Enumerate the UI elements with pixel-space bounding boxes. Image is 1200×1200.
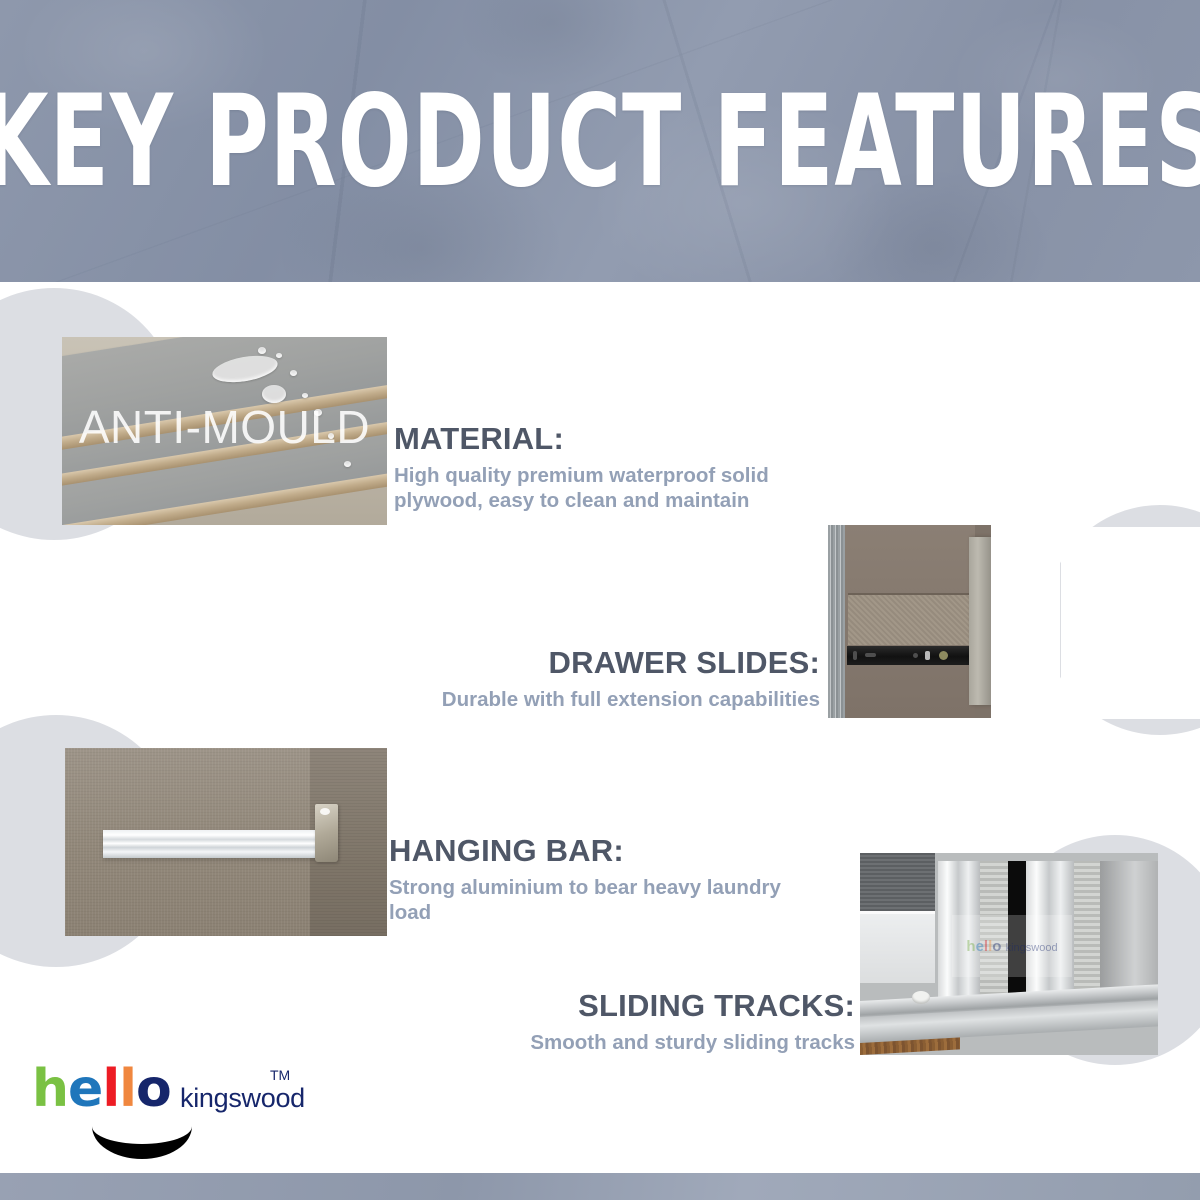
feature-material-text: MATERIAL: High quality premium waterproo… (394, 421, 834, 514)
feature-sliding-body: Smooth and sturdy sliding tracks (470, 1030, 855, 1056)
logo-smile-icon (92, 1125, 192, 1159)
wardrobe-interior (1100, 861, 1158, 1001)
hanging-bar-photo (65, 748, 387, 936)
rail-detail (865, 653, 876, 657)
white-lower-panel (860, 911, 935, 983)
drawer-side-wall (828, 525, 845, 718)
decor-white-notch (1061, 527, 1200, 719)
rail-screw (939, 651, 948, 660)
feature-material-body: High quality premium waterproof solid pl… (394, 463, 834, 515)
watermark-text: hello kingswood (966, 938, 1057, 955)
feature-drawer-heading: DRAWER SLIDES: (360, 645, 820, 682)
water-droplet-small (314, 409, 322, 416)
drawer-photo-cutout (991, 525, 1060, 718)
logo-letter-e: e (68, 1063, 102, 1115)
infographic-canvas: KEY PRODUCT FEATURES ANTI-MOULD MATERIAL… (0, 0, 1200, 1200)
water-droplet-small (344, 461, 351, 467)
page-title: KEY PRODUCT FEATURES (42, 0, 1158, 282)
plywood-photo (62, 337, 387, 525)
logo-letter-h: h (32, 1063, 68, 1115)
feature-hanging-body: Strong aluminium to bear heavy laundry l… (389, 875, 809, 927)
logo-letter-l2: l (119, 1063, 136, 1115)
water-droplet-medium (262, 385, 286, 403)
logo-brand-name: kingswood (180, 1083, 305, 1114)
drawer-front-face (969, 537, 991, 705)
feature-sliding-text: SLIDING TRACKS: Smooth and sturdy slidin… (470, 988, 855, 1055)
water-droplet-small (302, 393, 308, 398)
water-droplet-small (290, 370, 297, 376)
rail-detail (853, 651, 857, 660)
drawer-box (848, 593, 973, 645)
feature-material-heading: MATERIAL: (394, 421, 834, 458)
bracket-highlight (320, 808, 330, 815)
footer-bar (0, 1173, 1200, 1200)
feature-drawer-text: DRAWER SLIDES: Durable with full extensi… (360, 645, 820, 712)
trademark-symbol: TM (270, 1067, 290, 1083)
sliding-tracks-photo: hello kingswood (860, 853, 1158, 1055)
logo-wordmark: hello (32, 1063, 171, 1115)
hello-kingswood-logo: hello kingswood TM (32, 1063, 302, 1158)
drawer-slides-photo (828, 525, 1060, 718)
feature-drawer-body: Durable with full extension capabilities (360, 687, 820, 713)
feature-hanging-text: HANGING BAR: Strong aluminium to bear he… (389, 833, 809, 926)
rail-detail (913, 653, 918, 658)
feature-sliding-heading: SLIDING TRACKS: (470, 988, 855, 1025)
dark-upper-panel (860, 853, 935, 911)
hello-kingswood-watermark: hello kingswood (952, 915, 1072, 977)
rail-detail (925, 651, 930, 660)
water-droplet-small (276, 353, 282, 358)
header-banner: KEY PRODUCT FEATURES (0, 0, 1200, 282)
water-droplet-small (258, 347, 266, 354)
feature-hanging-heading: HANGING BAR: (389, 833, 809, 870)
logo-letter-o: o (136, 1063, 171, 1115)
water-droplet-small (328, 433, 334, 439)
track-roller-wheel (912, 991, 930, 1004)
logo-letter-l1: l (102, 1063, 119, 1115)
drawer-slide-rail (847, 646, 971, 665)
aluminium-hanging-rail (103, 830, 321, 858)
door-brush-seal (1074, 861, 1100, 1001)
